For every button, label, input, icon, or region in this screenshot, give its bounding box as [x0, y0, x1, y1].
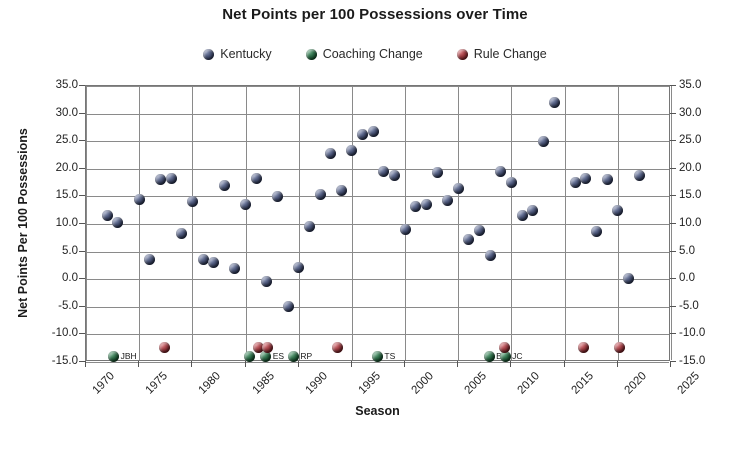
- y-axis-tick: [670, 333, 676, 334]
- y-axis-tick-label-right: 25.0: [679, 134, 701, 146]
- data-point-kentucky[interactable]: [527, 205, 538, 216]
- data-point-kentucky[interactable]: [261, 276, 272, 287]
- x-axis-tick-label: 1985: [250, 370, 277, 397]
- data-point-kentucky[interactable]: [506, 177, 517, 188]
- legend-marker-icon: [306, 49, 317, 60]
- y-axis-tick: [670, 168, 676, 169]
- data-point-rule-change[interactable]: [332, 342, 343, 353]
- data-point-kentucky[interactable]: [346, 145, 357, 156]
- data-point-kentucky[interactable]: [453, 183, 464, 194]
- legend-marker-icon: [203, 49, 214, 60]
- gridline-horizontal: [86, 224, 669, 225]
- data-point-kentucky[interactable]: [315, 189, 326, 200]
- data-point-kentucky[interactable]: [389, 170, 400, 181]
- data-point-kentucky[interactable]: [251, 173, 262, 184]
- data-point-rule-change[interactable]: [578, 342, 589, 353]
- y-axis-tick-label: 10.0: [28, 217, 78, 229]
- gridline-horizontal: [86, 114, 669, 115]
- gridline-horizontal: [86, 141, 669, 142]
- y-axis-tick-label-right: -15.0: [679, 355, 705, 367]
- data-point-kentucky[interactable]: [208, 257, 219, 268]
- data-point-kentucky[interactable]: [517, 210, 528, 221]
- x-axis-tick-label: 2015: [569, 370, 596, 397]
- x-axis-tick-label: 1990: [303, 370, 330, 397]
- data-point-rule-change[interactable]: [262, 342, 273, 353]
- chart-container: Net Points per 100 Possessions over Time…: [0, 0, 750, 456]
- y-axis-tick-label-right: 5.0: [679, 245, 695, 257]
- data-point-rule-change[interactable]: [159, 342, 170, 353]
- data-point-kentucky[interactable]: [570, 177, 581, 188]
- gridline-vertical: [618, 86, 619, 360]
- y-axis-tick: [79, 168, 85, 169]
- data-point-kentucky[interactable]: [474, 225, 485, 236]
- y-axis-tick: [79, 195, 85, 196]
- data-point-kentucky[interactable]: [463, 234, 474, 245]
- data-point-kentucky[interactable]: [623, 273, 634, 284]
- y-axis-tick: [79, 223, 85, 224]
- data-point-kentucky[interactable]: [612, 205, 623, 216]
- data-point-rule-change[interactable]: [614, 342, 625, 353]
- x-axis-tick-label: 2025: [675, 370, 702, 397]
- x-axis-tick: [298, 361, 299, 367]
- data-point-kentucky[interactable]: [229, 263, 240, 274]
- y-axis-tick: [79, 251, 85, 252]
- x-axis-tick-label: 1970: [90, 370, 117, 397]
- event-marker-label: RP: [300, 351, 312, 361]
- y-axis-tick-label: -15.0: [28, 355, 78, 367]
- data-point-kentucky[interactable]: [283, 301, 294, 312]
- data-point-coaching-change[interactable]: [108, 351, 119, 362]
- y-axis-tick-label: 25.0: [28, 134, 78, 146]
- y-axis-tick: [79, 278, 85, 279]
- gridline-vertical: [139, 86, 140, 360]
- y-axis-tick-label-right: 35.0: [679, 79, 701, 91]
- data-point-kentucky[interactable]: [102, 210, 113, 221]
- y-axis-tick: [79, 333, 85, 334]
- gridline-vertical: [192, 86, 193, 360]
- legend-label: Rule Change: [474, 47, 547, 61]
- y-axis-tick: [670, 223, 676, 224]
- data-point-kentucky[interactable]: [187, 196, 198, 207]
- y-axis-tick: [670, 85, 676, 86]
- gridline-horizontal: [86, 86, 669, 87]
- data-point-kentucky[interactable]: [485, 250, 496, 261]
- gridline-vertical: [352, 86, 353, 360]
- gridline-horizontal: [86, 307, 669, 308]
- x-axis-tick-label: 1995: [356, 370, 383, 397]
- y-axis-tick-label-right: -10.0: [679, 327, 705, 339]
- event-marker-label: JBH: [121, 351, 137, 361]
- y-axis-tick-label-right: 20.0: [679, 162, 701, 174]
- y-axis-tick: [670, 113, 676, 114]
- data-point-kentucky[interactable]: [219, 180, 230, 191]
- y-axis-tick-label: 20.0: [28, 162, 78, 174]
- data-point-coaching-change[interactable]: [484, 351, 495, 362]
- data-point-coaching-change[interactable]: [372, 351, 383, 362]
- data-point-kentucky[interactable]: [112, 217, 123, 228]
- gridline-horizontal: [86, 252, 669, 253]
- gridline-horizontal: [86, 196, 669, 197]
- chart-legend: KentuckyCoaching ChangeRule Change: [0, 47, 750, 61]
- y-axis-tick: [670, 195, 676, 196]
- y-axis-tick: [79, 85, 85, 86]
- legend-item-rule-change[interactable]: Rule Change: [457, 47, 547, 61]
- gridline-horizontal: [86, 279, 669, 280]
- y-axis-tick-label: 35.0: [28, 79, 78, 91]
- event-marker-label: ES: [273, 351, 284, 361]
- y-axis-tick-label: 0.0: [28, 272, 78, 284]
- y-axis-tick: [670, 306, 676, 307]
- data-point-kentucky[interactable]: [442, 195, 453, 206]
- gridline-horizontal: [86, 334, 669, 335]
- y-axis-tick-label: 30.0: [28, 107, 78, 119]
- data-point-kentucky[interactable]: [166, 173, 177, 184]
- legend-label: Kentucky: [220, 47, 271, 61]
- data-point-kentucky[interactable]: [580, 173, 591, 184]
- data-point-kentucky[interactable]: [293, 262, 304, 273]
- x-axis-tick: [670, 361, 671, 367]
- event-marker-label: JC: [512, 351, 522, 361]
- x-axis-tick: [138, 361, 139, 367]
- y-axis-tick: [79, 113, 85, 114]
- data-point-kentucky[interactable]: [240, 199, 251, 210]
- data-point-kentucky[interactable]: [538, 136, 549, 147]
- gridline-vertical: [565, 86, 566, 360]
- data-point-kentucky[interactable]: [198, 254, 209, 265]
- x-axis-tick: [404, 361, 405, 367]
- y-axis-tick-label: 5.0: [28, 245, 78, 257]
- x-axis-tick: [351, 361, 352, 367]
- data-point-coaching-change[interactable]: [500, 351, 511, 362]
- data-point-kentucky[interactable]: [144, 254, 155, 265]
- y-axis-tick: [670, 140, 676, 141]
- gridline-vertical: [246, 86, 247, 360]
- data-point-kentucky[interactable]: [304, 221, 315, 232]
- gridline-horizontal: [86, 362, 669, 363]
- legend-label: Coaching Change: [323, 47, 423, 61]
- gridline-vertical: [86, 86, 87, 360]
- y-axis-tick-label: -5.0: [28, 300, 78, 312]
- data-point-kentucky[interactable]: [368, 126, 379, 137]
- x-axis-label: Season: [85, 404, 670, 418]
- legend-item-kentucky[interactable]: Kentucky: [203, 47, 271, 61]
- gridline-vertical: [405, 86, 406, 360]
- x-axis-tick-label: 2010: [516, 370, 543, 397]
- data-point-kentucky[interactable]: [634, 170, 645, 181]
- gridline-vertical: [511, 86, 512, 360]
- data-point-kentucky[interactable]: [495, 166, 506, 177]
- y-axis-tick: [79, 140, 85, 141]
- data-point-kentucky[interactable]: [410, 201, 421, 212]
- legend-item-coaching-change[interactable]: Coaching Change: [306, 47, 423, 61]
- data-point-kentucky[interactable]: [378, 166, 389, 177]
- x-axis-tick: [245, 361, 246, 367]
- data-point-kentucky[interactable]: [134, 194, 145, 205]
- data-point-kentucky[interactable]: [357, 129, 368, 140]
- x-axis-tick-label: 1980: [197, 370, 224, 397]
- data-point-kentucky[interactable]: [432, 167, 443, 178]
- data-point-coaching-change[interactable]: [244, 351, 255, 362]
- gridline-vertical: [458, 86, 459, 360]
- y-axis-tick: [670, 278, 676, 279]
- data-point-kentucky[interactable]: [155, 174, 166, 185]
- x-axis-tick-label: 2005: [463, 370, 490, 397]
- x-axis-tick: [510, 361, 511, 367]
- data-point-kentucky[interactable]: [325, 148, 336, 159]
- y-axis-tick-label-right: 30.0: [679, 107, 701, 119]
- data-point-coaching-change[interactable]: [260, 351, 271, 362]
- x-axis-tick: [457, 361, 458, 367]
- y-axis-tick-label-right: -5.0: [679, 300, 699, 312]
- data-point-kentucky[interactable]: [591, 226, 602, 237]
- y-axis-tick-label-right: 0.0: [679, 272, 695, 284]
- x-axis-tick: [617, 361, 618, 367]
- data-point-kentucky[interactable]: [421, 199, 432, 210]
- data-point-kentucky[interactable]: [336, 185, 347, 196]
- data-point-kentucky[interactable]: [549, 97, 560, 108]
- plot-area: JBHESRPTSBJC: [85, 85, 670, 361]
- x-axis-tick-label: 2020: [622, 370, 649, 397]
- data-point-kentucky[interactable]: [602, 174, 613, 185]
- x-axis-tick-label: 2000: [410, 370, 437, 397]
- chart-title: Net Points per 100 Possessions over Time: [0, 6, 750, 23]
- legend-marker-icon: [457, 49, 468, 60]
- y-axis-tick-label-right: 10.0: [679, 217, 701, 229]
- y-axis-tick-label-right: 15.0: [679, 189, 701, 201]
- y-axis-tick: [79, 306, 85, 307]
- data-point-kentucky[interactable]: [272, 191, 283, 202]
- data-point-kentucky[interactable]: [176, 228, 187, 239]
- x-axis-tick: [191, 361, 192, 367]
- x-axis-tick-label: 1975: [144, 370, 171, 397]
- data-point-kentucky[interactable]: [400, 224, 411, 235]
- y-axis-tick: [670, 251, 676, 252]
- x-axis-tick: [564, 361, 565, 367]
- gridline-vertical: [299, 86, 300, 360]
- x-axis-tick: [85, 361, 86, 367]
- event-marker-label: TS: [384, 351, 395, 361]
- y-axis-tick-label: -10.0: [28, 327, 78, 339]
- data-point-rule-change[interactable]: [499, 342, 510, 353]
- y-axis-tick-label: 15.0: [28, 189, 78, 201]
